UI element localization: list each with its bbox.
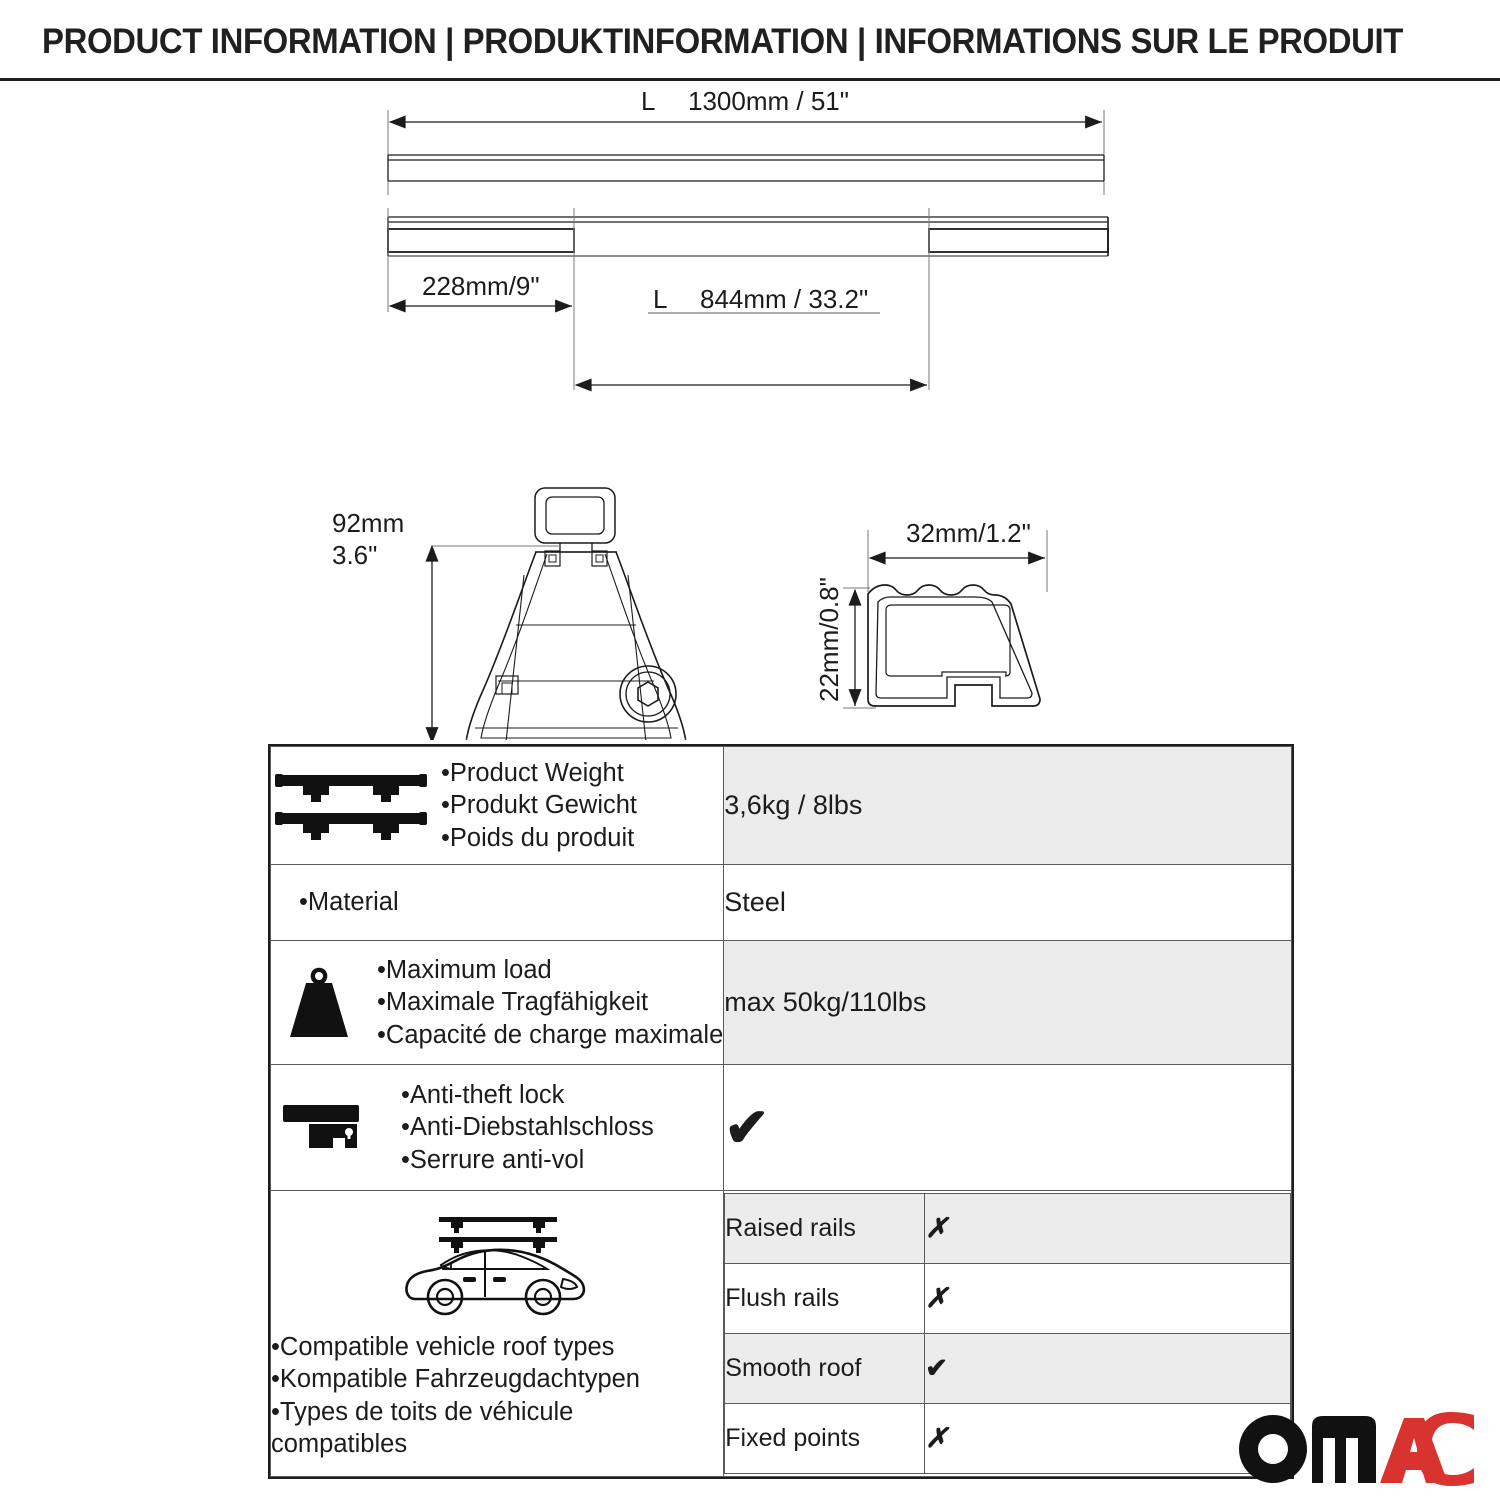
spec-value-maxload: max 50kg/110lbs — [724, 941, 1292, 1065]
roof-type-row: Raised rails ✗ — [725, 1194, 1291, 1264]
roof-type-row: Fixed points ✗ — [725, 1404, 1291, 1474]
profile-width-value: 32mm/1.2" — [906, 518, 1031, 548]
bar-length-value: 1300mm / 51" — [688, 86, 849, 116]
roof-type-mark: ✗ — [925, 1404, 1291, 1474]
omac-logo — [1238, 1412, 1474, 1486]
profile-height-value: 22mm/0.8" — [814, 577, 844, 702]
table-row: •Product Weight •Produkt Gewicht •Poids … — [271, 747, 1292, 865]
label-line: •Produkt Gewicht — [441, 789, 637, 821]
label-line: •Kompatible Fahrzeugdachtypen — [271, 1363, 723, 1395]
span-value: 844mm / 33.2" — [700, 284, 868, 314]
cross-icon: ✗ — [925, 1283, 948, 1313]
label-line: compatibles — [271, 1428, 723, 1460]
foot-offset-value: 228mm/9" — [422, 271, 540, 301]
label-line: •Poids du produit — [441, 822, 637, 854]
spec-label-cell-weight: •Product Weight •Produkt Gewicht •Poids … — [271, 747, 724, 865]
roof-type-mark: ✗ — [925, 1264, 1291, 1334]
foot-width-value: 104mm / 4" — [506, 738, 638, 740]
spec-label-cell-maxload: •Maximum load •Maximale Tragfähigkeit •C… — [271, 941, 724, 1065]
label-line: •Product Weight — [441, 757, 637, 789]
page-title: PRODUCT INFORMATION | PRODUKTINFORMATION… — [42, 22, 1377, 62]
table-row: •Compatible vehicle roof types •Kompatib… — [271, 1191, 1292, 1477]
roof-bars-icon — [271, 769, 431, 843]
spec-label-text-lock: •Anti-theft lock •Anti-Diebstahlschloss … — [401, 1079, 654, 1175]
table-row: •Maximum load •Maximale Tragfähigkeit •C… — [271, 941, 1292, 1065]
lock-icon — [271, 1099, 391, 1157]
foot-height-line2: 3.6" — [332, 540, 377, 570]
roof-type-row: Smooth roof ✔ — [725, 1334, 1291, 1404]
label-line: •Capacité de charge maximale — [377, 1019, 723, 1051]
spec-label-cell-roof-types: •Compatible vehicle roof types •Kompatib… — [271, 1191, 724, 1477]
table-row: •Anti-theft lock •Anti-Diebstahlschloss … — [271, 1065, 1292, 1191]
specification-table: •Product Weight •Produkt Gewicht •Poids … — [268, 744, 1294, 1479]
spec-value-weight: 3,6kg / 8lbs — [724, 747, 1292, 865]
roof-type-name: Smooth roof — [725, 1334, 925, 1404]
spec-value-material: Steel — [724, 865, 1292, 941]
roof-type-name: Flush rails — [725, 1264, 925, 1334]
label-line: •Types de toits de véhicule — [271, 1396, 723, 1428]
roof-types-matrix-cell: Raised rails ✗ Flush rails ✗ — [724, 1191, 1292, 1477]
foot-height-line1: 92mm — [332, 508, 404, 538]
roof-type-mark: ✗ — [925, 1194, 1291, 1264]
label-line: •Serrure anti-vol — [401, 1144, 654, 1176]
label-line: •Material — [299, 886, 399, 918]
technical-drawing: L 1300mm / 51" 228mm/9" L 844mm / 33.2" … — [0, 80, 1500, 740]
car-with-roof-bars-icon — [271, 1207, 723, 1325]
table-row: •Material Steel — [271, 865, 1292, 941]
roof-type-row: Flush rails ✗ — [725, 1264, 1291, 1334]
roof-type-mark: ✔ — [925, 1334, 1291, 1404]
spec-value-lock: ✔ — [724, 1065, 1292, 1191]
label-line: •Compatible vehicle roof types — [271, 1331, 723, 1363]
label-line: •Anti-theft lock — [401, 1079, 654, 1111]
cross-icon: ✗ — [925, 1213, 948, 1243]
spec-label-text-maxload: •Maximum load •Maximale Tragfähigkeit •C… — [377, 954, 723, 1050]
label-line: •Maximum load — [377, 954, 723, 986]
spec-label-text-material: •Material — [299, 886, 399, 918]
cross-icon: ✗ — [925, 1423, 948, 1453]
spec-label-cell-material: •Material — [271, 865, 724, 941]
span-prefix: L — [653, 284, 667, 314]
spec-label-text-roof-types: •Compatible vehicle roof types •Kompatib… — [271, 1331, 723, 1460]
roof-type-name: Fixed points — [725, 1404, 925, 1474]
spec-label-text-weight: •Product Weight •Produkt Gewicht •Poids … — [441, 757, 637, 853]
roof-types-matrix: Raised rails ✗ Flush rails ✗ — [724, 1193, 1291, 1474]
spec-label-cell-lock: •Anti-theft lock •Anti-Diebstahlschloss … — [271, 1065, 724, 1191]
weight-icon — [271, 966, 367, 1040]
check-icon: ✔ — [925, 1353, 948, 1383]
label-line: •Anti-Diebstahlschloss — [401, 1111, 654, 1143]
roof-type-name: Raised rails — [725, 1194, 925, 1264]
bar-length-prefix: L — [641, 86, 655, 116]
check-icon: ✔ — [724, 1098, 769, 1158]
label-line: •Maximale Tragfähigkeit — [377, 986, 723, 1018]
